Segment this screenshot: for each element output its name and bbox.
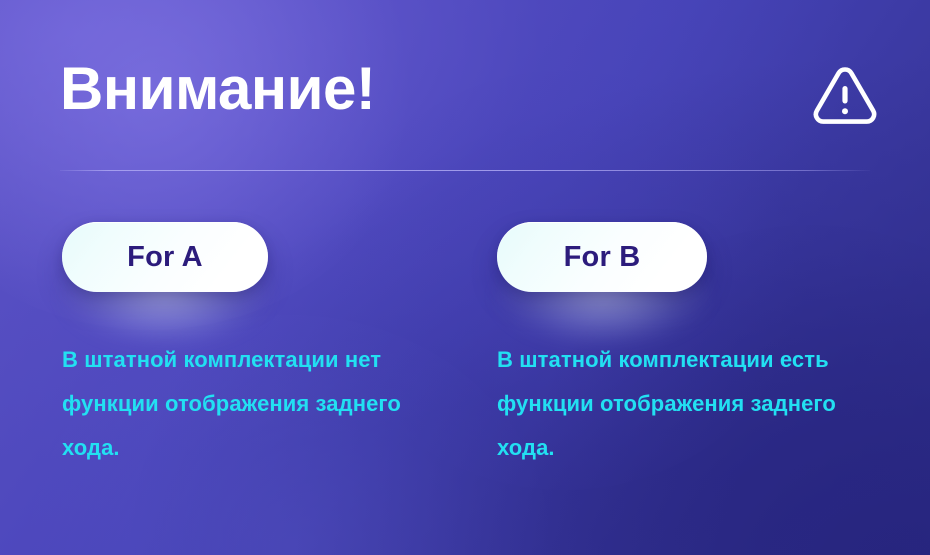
for-a-description: В штатной комплектации нет функции отобр… — [62, 338, 444, 470]
header-divider — [60, 170, 870, 171]
for-a-button[interactable]: For A — [62, 222, 268, 292]
for-b-button-label: For B — [564, 243, 641, 272]
warning-slide: Внимание! For A В штатной комплектации н… — [0, 0, 930, 555]
for-b-description: В штатной комплектации есть функции отоб… — [497, 338, 887, 470]
pill-wrapper-a: For A — [62, 222, 462, 292]
column-for-a: For A В штатной комплектации нет функции… — [62, 222, 462, 470]
pill-wrapper-b: For B — [497, 222, 897, 292]
warning-triangle-icon — [808, 58, 882, 132]
page-title: Внимание! — [60, 52, 375, 126]
for-b-button[interactable]: For B — [497, 222, 707, 292]
column-for-b: For B В штатной комплектации есть функци… — [497, 222, 897, 470]
for-a-button-label: For A — [127, 243, 203, 272]
